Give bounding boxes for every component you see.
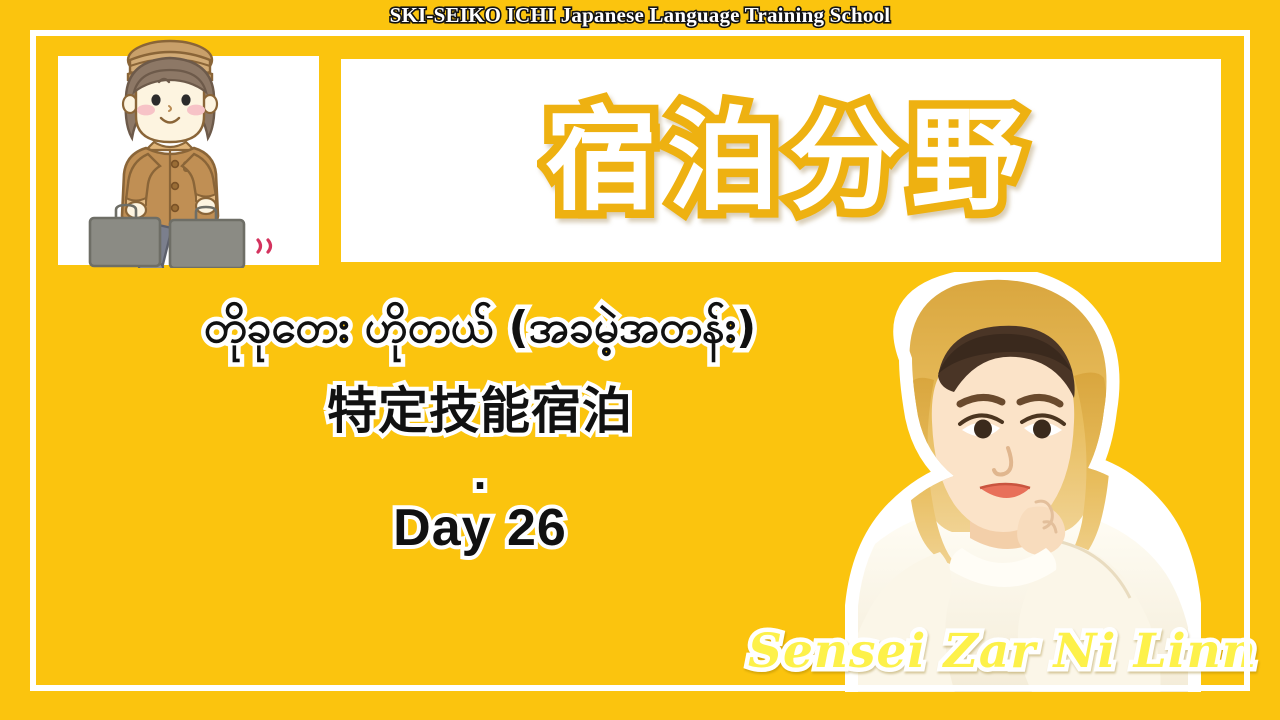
header-band: SKI-SEIKO ICHI Japanese Language Trainin… bbox=[0, 0, 1280, 30]
school-name-title: SKI-SEIKO ICHI Japanese Language Trainin… bbox=[390, 3, 891, 28]
signature-text: Sensei Zar Ni Linn bbox=[748, 624, 1257, 679]
presenter-signature: Sensei Zar Ni Linn bbox=[748, 624, 1248, 679]
illustration-panel bbox=[58, 56, 319, 265]
main-title-text: 宿泊分野 bbox=[545, 105, 1033, 217]
slide-canvas: SKI-SEIKO ICHI Japanese Language Trainin… bbox=[0, 0, 1280, 720]
bellhop-porter-illustration bbox=[58, 38, 319, 268]
main-title-panel: 宿泊分野 bbox=[341, 59, 1221, 262]
